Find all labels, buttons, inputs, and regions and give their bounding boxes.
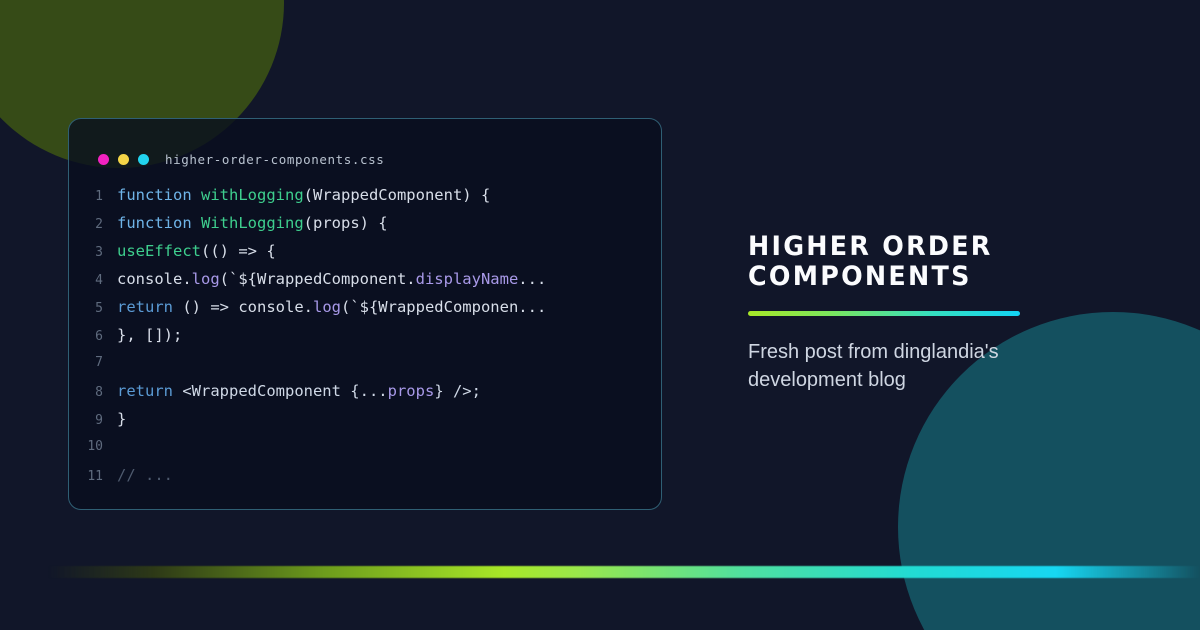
- code-editor-content[interactable]: 1function withLogging(WrappedComponent) …: [69, 173, 661, 489]
- line-number: 7: [69, 349, 117, 377]
- line-text: return <WrappedComponent {...props} />;: [117, 377, 661, 405]
- line-number: 2: [69, 211, 117, 239]
- code-line: 3 useEffect(() => {: [69, 237, 661, 265]
- gradient-strip: [0, 566, 1200, 578]
- line-number: 11: [69, 463, 117, 491]
- filename-label: higher-order-components.css: [165, 152, 384, 167]
- page-subtitle: Fresh post from dinglandia's development…: [748, 338, 1033, 394]
- code-window-titlebar: higher-order-components.css: [69, 119, 661, 173]
- line-text: }, []);: [117, 321, 661, 349]
- code-window: higher-order-components.css 1function wi…: [68, 118, 662, 510]
- maximize-icon[interactable]: [138, 154, 149, 165]
- code-line: 8 return <WrappedComponent {...props} />…: [69, 377, 661, 405]
- line-number: 10: [69, 433, 117, 461]
- line-number: 8: [69, 379, 117, 407]
- code-line: 9 }: [69, 405, 661, 433]
- line-text: useEffect(() => {: [117, 237, 661, 265]
- code-line: 6 }, []);: [69, 321, 661, 349]
- line-text: function WithLogging(props) {: [117, 209, 661, 237]
- close-icon[interactable]: [98, 154, 109, 165]
- line-number: 3: [69, 239, 117, 267]
- line-text: // ...: [117, 461, 661, 489]
- page-title: HIGHER ORDER COMPONENTS: [748, 232, 1030, 292]
- line-text: }: [117, 405, 661, 433]
- code-line: 7: [69, 349, 661, 377]
- code-line: 1function withLogging(WrappedComponent) …: [69, 181, 661, 209]
- code-line: 5 return () => console.log(`${WrappedCom…: [69, 293, 661, 321]
- line-number: 5: [69, 295, 117, 323]
- line-text: return () => console.log(`${WrappedCompo…: [117, 293, 661, 321]
- code-line: 11 // ...: [69, 461, 661, 489]
- minimize-icon[interactable]: [118, 154, 129, 165]
- line-number: 6: [69, 323, 117, 351]
- line-number: 1: [69, 183, 117, 211]
- accent-bar: [748, 311, 1020, 316]
- code-line: 10: [69, 433, 661, 461]
- code-line: 2 function WithLogging(props) {: [69, 209, 661, 237]
- line-number: 4: [69, 267, 117, 295]
- line-number: 9: [69, 407, 117, 435]
- right-panel: HIGHER ORDER COMPONENTS Fresh post from …: [748, 232, 1048, 394]
- code-line: 4 console.log(`${WrappedComponent.displa…: [69, 265, 661, 293]
- line-text: console.log(`${WrappedComponent.displayN…: [117, 265, 661, 293]
- line-text: function withLogging(WrappedComponent) {: [117, 181, 661, 209]
